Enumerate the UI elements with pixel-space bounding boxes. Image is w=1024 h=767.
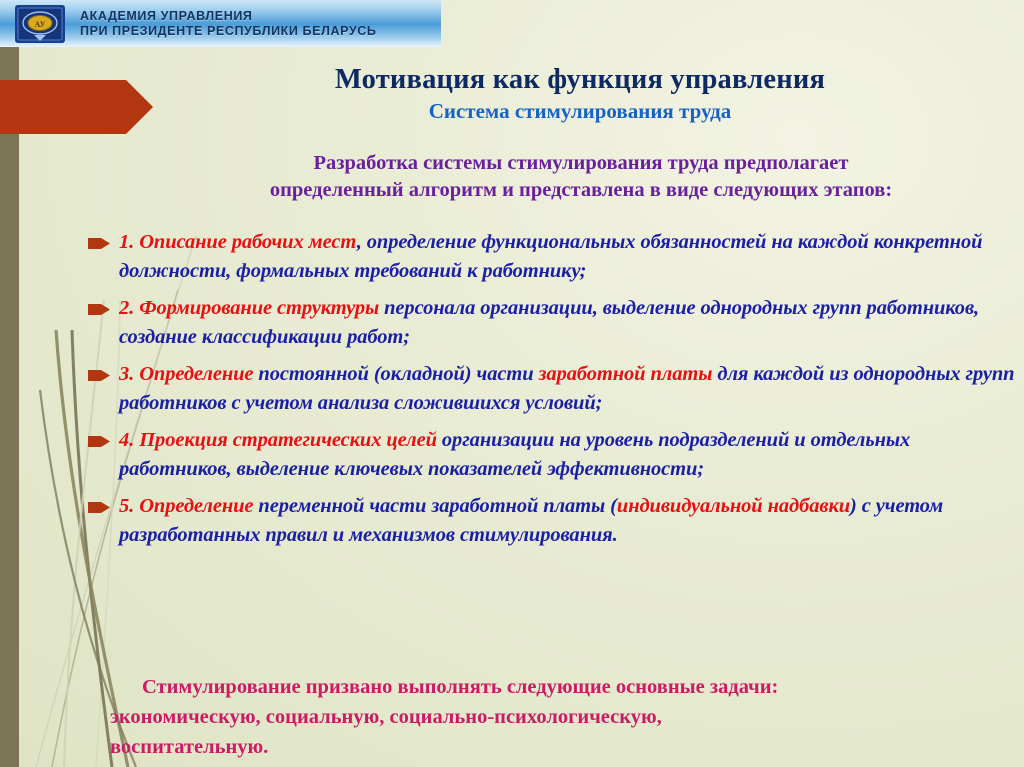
- slide-canvas: АУ АКАДЕМИЯ УПРАВЛЕНИЯ ПРИ ПРЕЗИДЕНТЕ РЕ…: [0, 0, 1024, 767]
- intro-line-2: определенный алгоритм и представлена в в…: [150, 177, 1012, 204]
- intro-line-1: Разработка системы стимулирования труда …: [150, 150, 1012, 177]
- arrow-bullet-icon: [88, 369, 110, 382]
- institution-banner: АУ АКАДЕМИЯ УПРАВЛЕНИЯ ПРИ ПРЕЗИДЕНТЕ РЕ…: [0, 0, 441, 47]
- page-subtitle: Система стимулирования труда: [150, 98, 1010, 124]
- page-title: Мотивация как функция управления: [150, 64, 1010, 96]
- bullet-highlight: 5. Определение: [119, 495, 253, 517]
- institution-line-1: АКАДЕМИЯ УПРАВЛЕНИЯ: [80, 9, 376, 24]
- bullet-highlight: 2. Формирование структуры: [119, 297, 379, 319]
- bullet-item: 4. Проекция стратегических целей организ…: [88, 426, 1018, 483]
- institution-line-2: ПРИ ПРЕЗИДЕНТЕ РЕСПУБЛИКИ БЕЛАРУСЬ: [80, 24, 376, 39]
- bullet-highlight: 1. Описание рабочих мест: [119, 231, 357, 253]
- bullet-highlight: заработной платы: [539, 363, 713, 385]
- arrow-bullet-icon: [88, 303, 110, 316]
- intro-paragraph: Разработка системы стимулирования труда …: [150, 150, 1012, 204]
- bullet-text: 2. Формирование структуры персонала орга…: [119, 294, 1018, 351]
- institution-name: АКАДЕМИЯ УПРАВЛЕНИЯ ПРИ ПРЕЗИДЕНТЕ РЕСПУ…: [80, 9, 376, 39]
- academy-emblem-icon: АУ: [14, 4, 66, 44]
- closing-line-1: Стимулирование призвано выполнять следую…: [110, 672, 1015, 702]
- bullet-highlight: индивидуальной надбавки: [617, 495, 850, 517]
- bullet-item: 5. Определение переменной части заработн…: [88, 492, 1018, 549]
- arrow-bullet-icon: [88, 435, 110, 448]
- red-arrow-decoration: [0, 80, 153, 134]
- bullet-item: 1. Описание рабочих мест, определение фу…: [88, 228, 1018, 285]
- bullet-text: 5. Определение переменной части заработн…: [119, 492, 1018, 549]
- left-accent-bar: [0, 47, 19, 767]
- bullet-body: постоянной (окладной) части: [253, 363, 538, 385]
- svg-text:АУ: АУ: [35, 20, 46, 29]
- bullet-list: 1. Описание рабочих мест, определение фу…: [88, 228, 1018, 558]
- bullet-item: 3. Определение постоянной (окладной) час…: [88, 360, 1018, 417]
- bullet-item: 2. Формирование структуры персонала орга…: [88, 294, 1018, 351]
- arrow-bullet-icon: [88, 237, 110, 250]
- closing-paragraph: Стимулирование призвано выполнять следую…: [110, 672, 1015, 762]
- arrow-bullet-icon: [88, 501, 110, 514]
- bullet-text: 1. Описание рабочих мест, определение фу…: [119, 228, 1018, 285]
- bullet-body: переменной части заработной платы (: [253, 495, 616, 517]
- closing-line-2: экономическую, социальную, социально-пси…: [110, 702, 1015, 732]
- title-block: Мотивация как функция управления Система…: [150, 64, 1010, 124]
- closing-line-3: воспитательную.: [110, 732, 1015, 762]
- bullet-text: 4. Проекция стратегических целей организ…: [119, 426, 1018, 483]
- bullet-text: 3. Определение постоянной (окладной) час…: [119, 360, 1018, 417]
- bullet-highlight: 3. Определение: [119, 363, 253, 385]
- bullet-highlight: 4. Проекция стратегических целей: [119, 429, 437, 451]
